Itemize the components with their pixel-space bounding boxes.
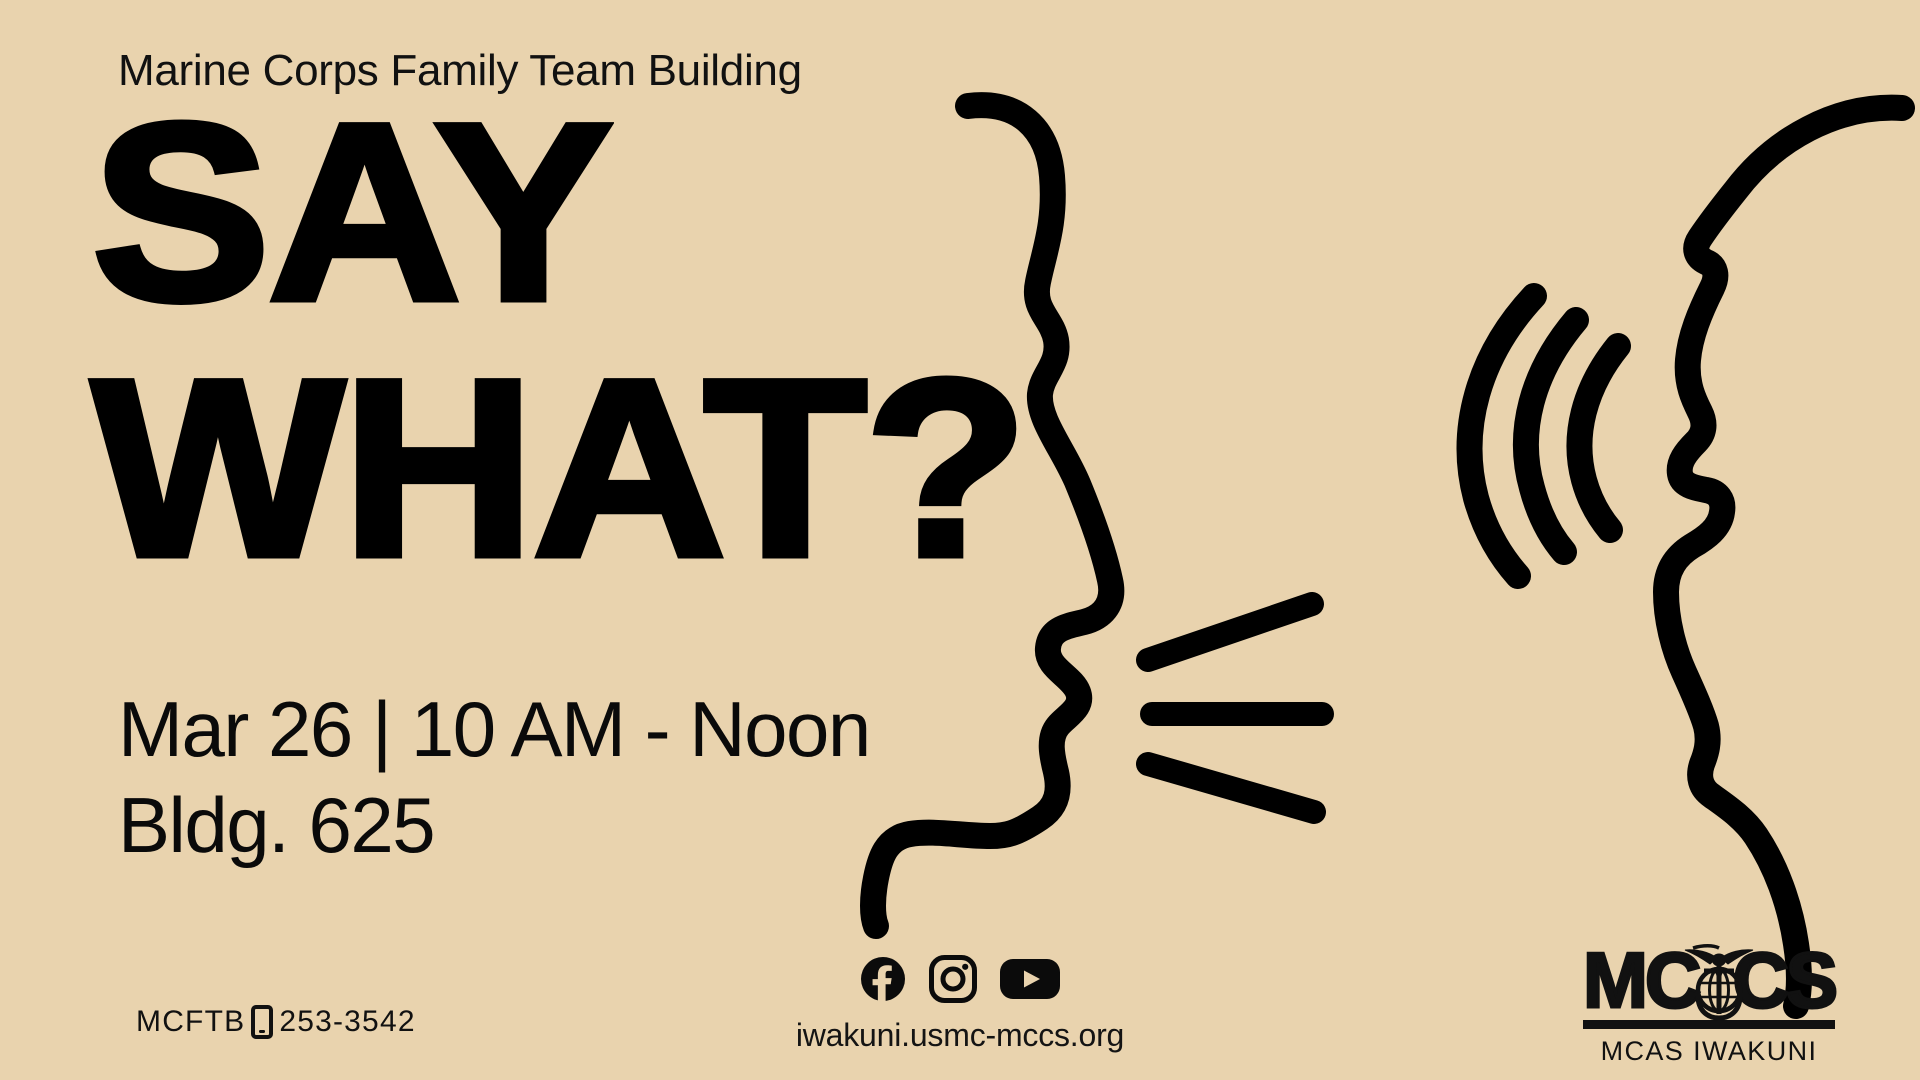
sound-wave-arc-group bbox=[1470, 296, 1618, 576]
event-datetime: Mar 26 | 10 AM - Noon bbox=[118, 690, 870, 768]
facebook-icon[interactable] bbox=[859, 955, 907, 1003]
instagram-icon[interactable] bbox=[929, 955, 977, 1003]
mobile-phone-icon bbox=[251, 1005, 273, 1039]
speech-line-upper bbox=[1148, 604, 1312, 660]
website-url[interactable]: iwakuni.usmc-mccs.org bbox=[796, 1017, 1124, 1054]
speech-line-lower bbox=[1148, 764, 1314, 812]
contact-block: MCFTB 253-3542 bbox=[136, 1005, 416, 1039]
mccs-wordmark: MC CS bbox=[1583, 946, 1835, 1018]
poster-canvas: Marine Corps Family Team Building SAY WH… bbox=[0, 0, 1920, 1080]
mccs-base-name: MCAS IWAKUNI bbox=[1601, 1036, 1818, 1067]
mccs-logo: MC CS bbox=[1578, 946, 1840, 1067]
contact-department: MCFTB bbox=[136, 1005, 245, 1039]
sound-wave-arc-inner bbox=[1579, 346, 1618, 530]
sound-wave-arc-middle bbox=[1526, 320, 1576, 552]
eagle-globe-anchor-icon bbox=[1679, 940, 1755, 1022]
speech-line-group bbox=[1148, 604, 1322, 812]
contact-phone: 253-3542 bbox=[279, 1005, 415, 1039]
headline-line-1: SAY bbox=[92, 112, 610, 314]
sound-wave-arc-outer bbox=[1470, 296, 1534, 576]
youtube-icon[interactable] bbox=[999, 956, 1061, 1002]
event-location: Bldg. 625 bbox=[118, 786, 434, 864]
listening-face-profile-path bbox=[1666, 108, 1902, 1006]
social-icon-row bbox=[859, 955, 1061, 1003]
headline-line-2: WHAT? bbox=[92, 368, 1026, 570]
